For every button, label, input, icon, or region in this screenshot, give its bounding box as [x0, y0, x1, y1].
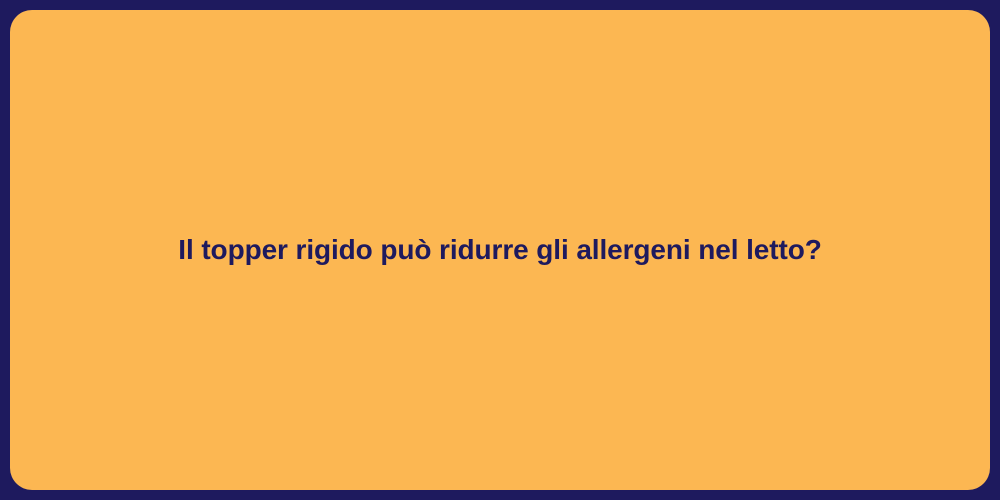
card-panel: Il topper rigido può ridurre gli allerge… [10, 10, 990, 490]
page-title: Il topper rigido può ridurre gli allerge… [178, 231, 821, 269]
card-frame: Il topper rigido può ridurre gli allerge… [0, 0, 1000, 500]
